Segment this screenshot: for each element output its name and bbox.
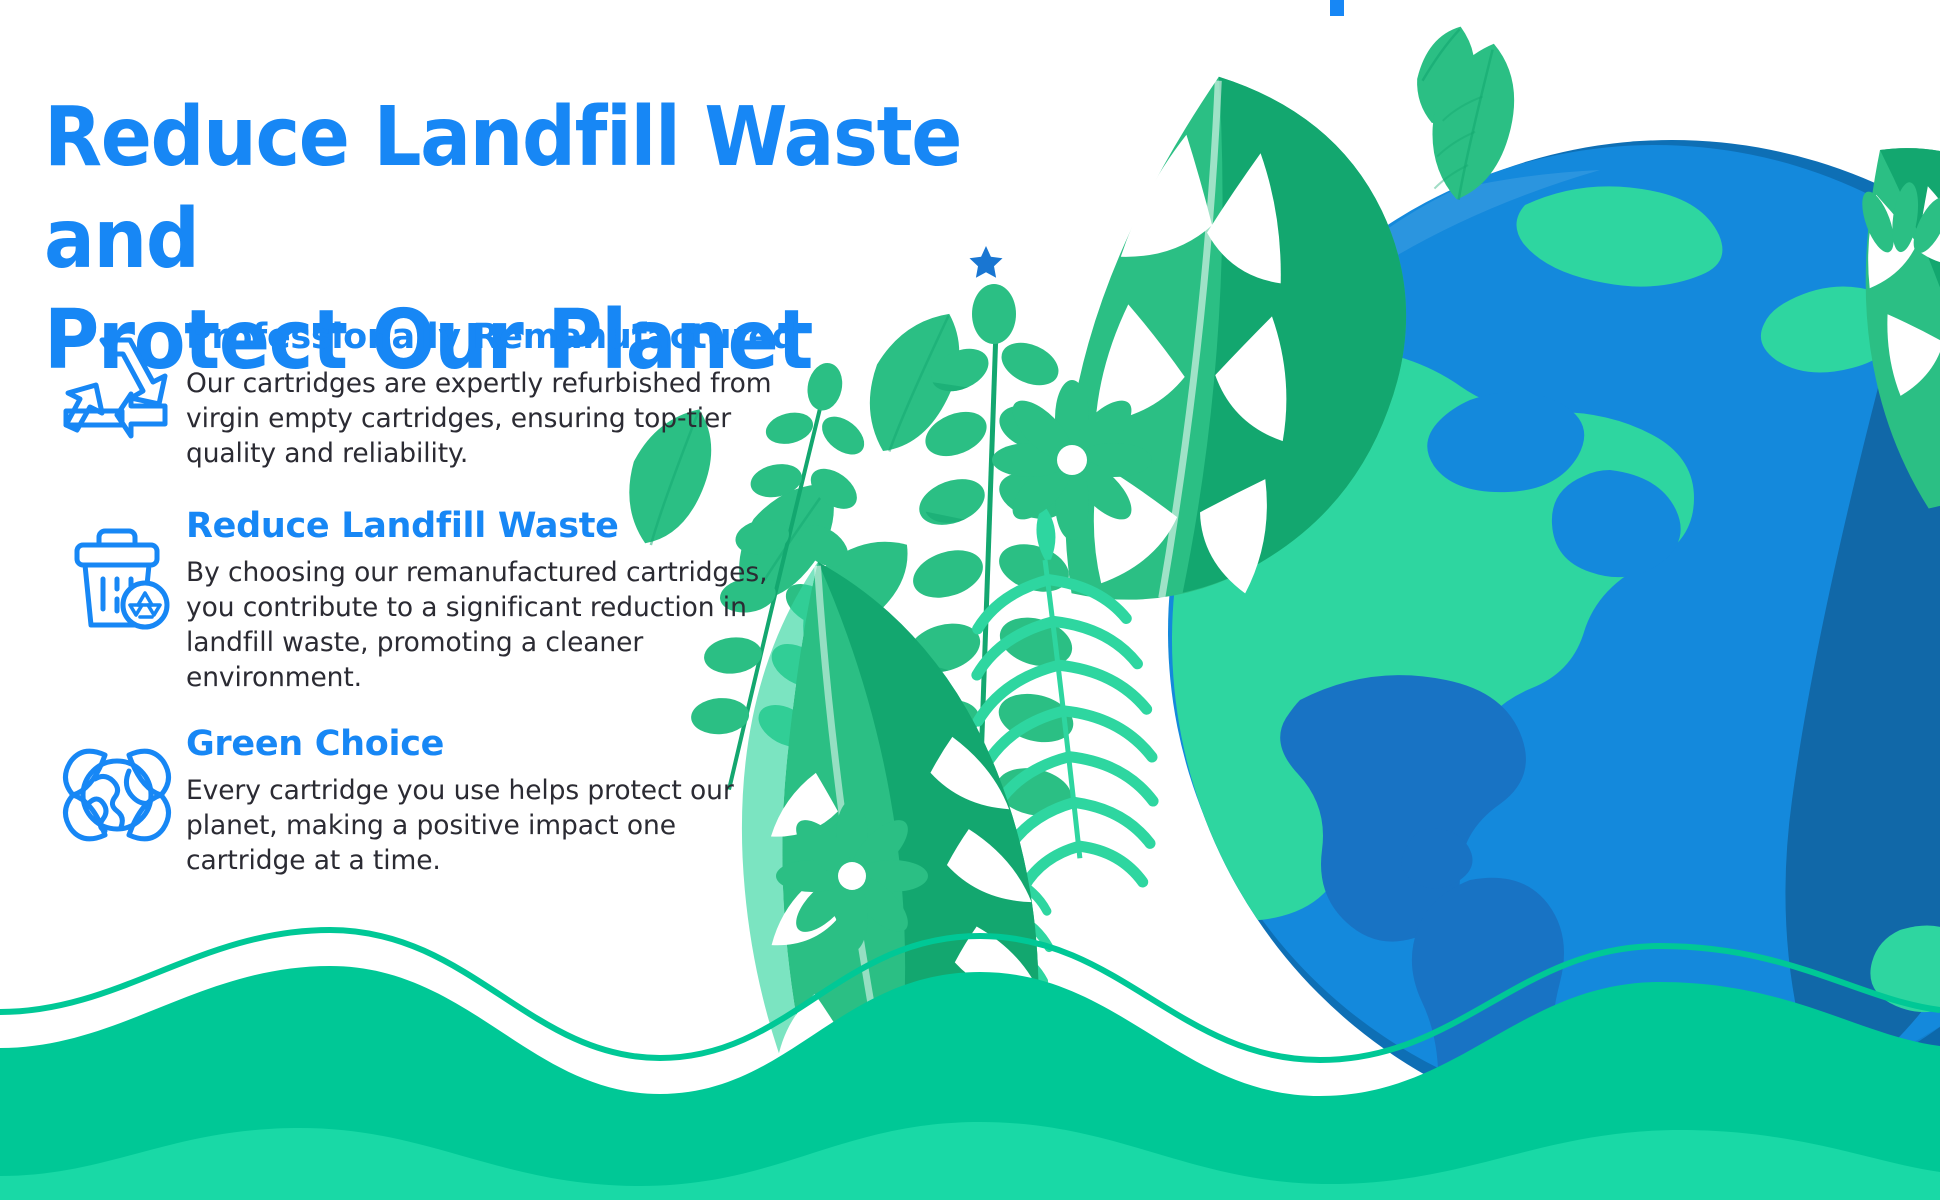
feature-text: Green Choice Every cartridge you use hel… bbox=[186, 725, 1048, 878]
feature-text: Reduce Landfill Waste By choosing our re… bbox=[186, 507, 1048, 695]
banner-root: Reduce Landfill Waste and Protect Our Pl… bbox=[0, 0, 1940, 1200]
feature-body: Our cartridges are expertly refurbished … bbox=[186, 367, 776, 471]
feature-icon-wrap bbox=[48, 318, 186, 444]
content-column: Reduce Landfill Waste and Protect Our Pl… bbox=[0, 0, 1100, 1200]
feature-title: Professionally Remanufactured bbox=[186, 318, 1048, 357]
feature-icon-wrap bbox=[48, 507, 186, 633]
globe-leaves-icon bbox=[61, 739, 173, 851]
feature-item: Reduce Landfill Waste By choosing our re… bbox=[48, 507, 1048, 695]
feature-item: Green Choice Every cartridge you use hel… bbox=[48, 725, 1048, 878]
monstera-leaf-icon bbox=[1048, 63, 1438, 635]
monstera-leaf-icon bbox=[1815, 109, 1940, 513]
accent-bar bbox=[1330, 0, 1344, 16]
feature-text: Professionally Remanufactured Our cartri… bbox=[186, 318, 1048, 471]
floating-leaf-icon bbox=[1418, 35, 1528, 208]
feature-body: Every cartridge you use helps protect ou… bbox=[186, 774, 776, 878]
feature-list: Professionally Remanufactured Our cartri… bbox=[48, 318, 1048, 905]
trash-bin-recycle-icon bbox=[61, 521, 173, 633]
feature-item: Professionally Remanufactured Our cartri… bbox=[48, 318, 1048, 471]
feature-title: Green Choice bbox=[186, 725, 1048, 764]
recycle-arrows-icon bbox=[61, 332, 173, 444]
fern-sprig-icon bbox=[1856, 181, 1940, 258]
feature-body: By choosing our remanufactured cartridge… bbox=[186, 556, 776, 695]
feature-title: Reduce Landfill Waste bbox=[186, 507, 1048, 546]
earth-globe-illustration bbox=[1065, 140, 1940, 1170]
feature-icon-wrap bbox=[48, 725, 186, 851]
headline-line-1: Reduce Landfill Waste and bbox=[44, 90, 961, 287]
floating-leaf-icon bbox=[1397, 25, 1495, 126]
